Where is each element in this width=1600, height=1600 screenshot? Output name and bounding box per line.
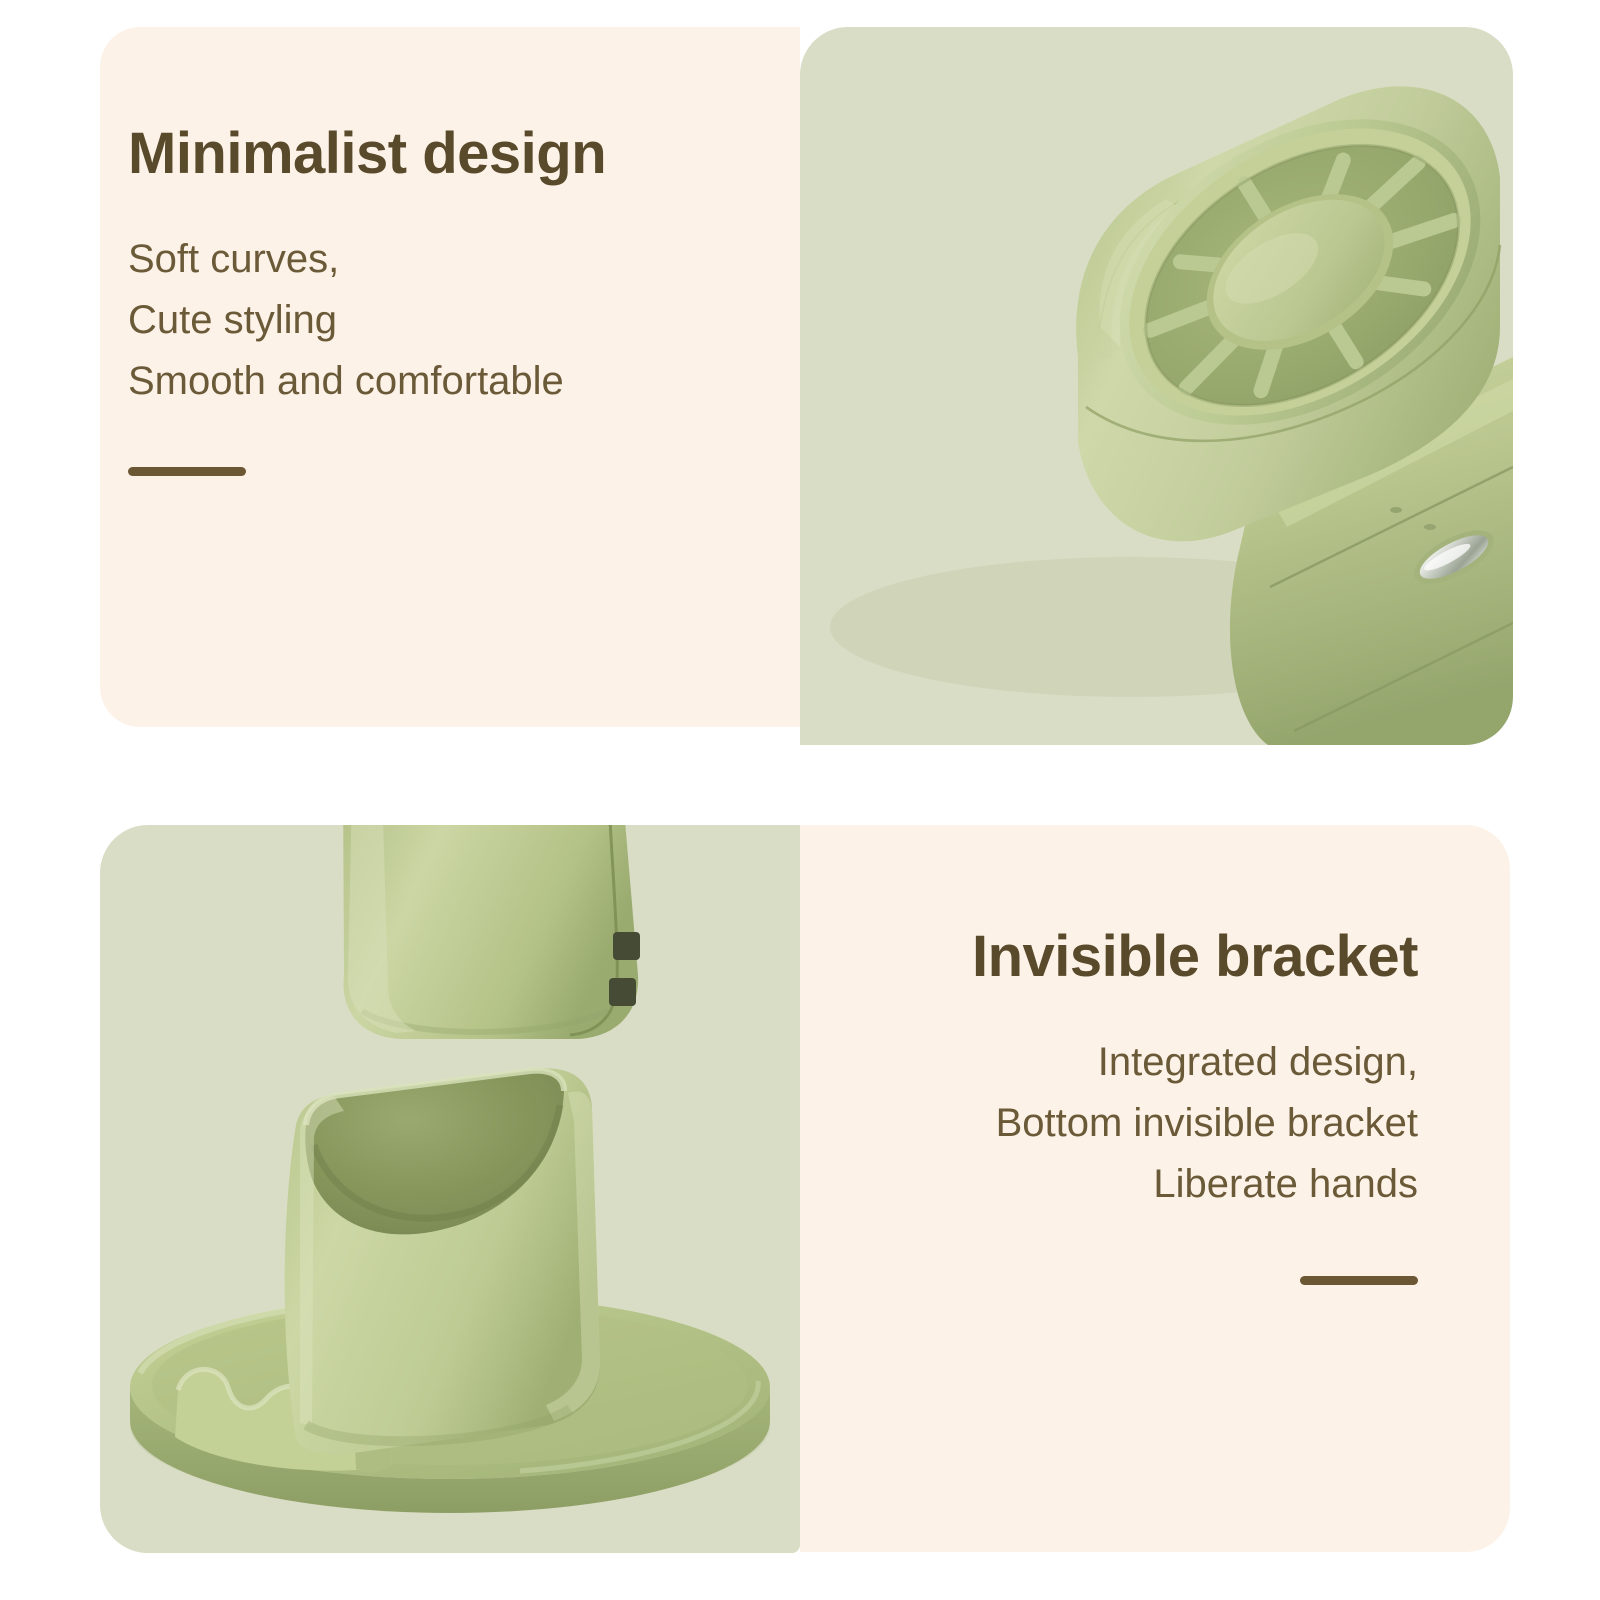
product-photo-dryer-head <box>800 27 1513 745</box>
bracket-stand-illustration <box>100 825 800 1553</box>
dryer-handle-base <box>343 825 640 1039</box>
feature-line: Integrated design, <box>972 1032 1418 1093</box>
feature-card-bracket: Invisible bracket Integrated design, Bot… <box>800 825 1510 1552</box>
accent-rule <box>1300 1276 1418 1285</box>
indicator-dot <box>1424 524 1436 530</box>
charging-contact <box>609 978 636 1006</box>
infographic-canvas: Minimalist design Soft curves, Cute styl… <box>0 0 1600 1600</box>
feature-line: Soft curves, <box>128 229 606 290</box>
feature-line: Cute styling <box>128 290 606 351</box>
dryer-head-illustration <box>800 27 1513 745</box>
feature-line-list: Integrated design, Bottom invisible brac… <box>972 1032 1418 1216</box>
feature-line: Bottom invisible bracket <box>972 1093 1418 1154</box>
feature-line: Smooth and comfortable <box>128 351 606 412</box>
indicator-dot <box>1390 507 1402 513</box>
stand-cradle <box>285 1068 600 1453</box>
feature-line: Liberate hands <box>972 1154 1418 1215</box>
feature-text-minimalist: Minimalist design Soft curves, Cute styl… <box>128 125 606 476</box>
feature-text-bracket: Invisible bracket Integrated design, Bot… <box>972 928 1418 1285</box>
charging-contact <box>613 932 640 960</box>
feature-title: Invisible bracket <box>972 928 1418 986</box>
feature-card-minimalist: Minimalist design Soft curves, Cute styl… <box>100 27 800 727</box>
feature-title: Minimalist design <box>128 125 606 183</box>
accent-rule <box>128 467 246 476</box>
feature-line-list: Soft curves, Cute styling Smooth and com… <box>128 229 606 413</box>
product-photo-bracket-stand <box>100 825 800 1553</box>
